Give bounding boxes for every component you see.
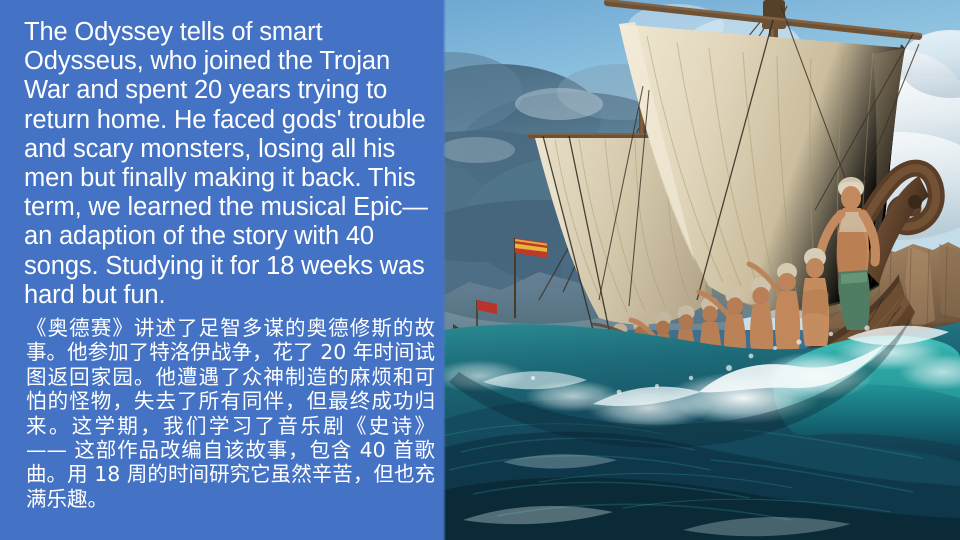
english-paragraph: The Odyssey tells of smart Odysseus, who… (24, 18, 435, 310)
chinese-paragraph: 《奥德赛》讲述了足智多谋的奥德修斯的故事。他参加了特洛伊战争，花了 20 年时间… (26, 316, 435, 511)
slide-canvas: The Odyssey tells of smart Odysseus, who… (0, 0, 960, 540)
panel-seam (443, 0, 446, 540)
illustration-panel (443, 0, 960, 540)
sea (443, 318, 960, 540)
odyssey-ship-illustration (443, 0, 960, 540)
text-panel: The Odyssey tells of smart Odysseus, who… (0, 0, 443, 540)
